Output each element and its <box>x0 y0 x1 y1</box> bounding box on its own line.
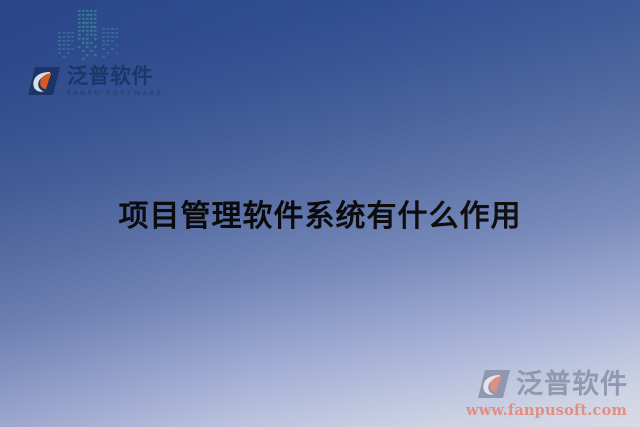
cityscape-buildings-icon <box>56 2 128 64</box>
fanpu-watermark-logo-icon <box>476 369 512 399</box>
watermark-logo-row: 泛普软件 <box>476 369 628 399</box>
promo-banner: 泛普软件 FANPU SOFTWARE 项目管理软件系统有什么作用 泛普软件 w… <box>0 0 640 427</box>
watermark-name-cn: 泛普软件 <box>516 371 628 398</box>
brand-wordmark-topleft: 泛普软件 FANPU SOFTWARE <box>67 66 163 97</box>
headline-title: 项目管理软件系统有什么作用 <box>0 198 640 236</box>
brand-watermark-bottomright: 泛普软件 www.fanpusoft.com <box>466 369 628 419</box>
brand-logo-topleft: 泛普软件 FANPU SOFTWARE <box>26 66 163 97</box>
fanpu-logo-mark-icon <box>26 66 62 96</box>
brand-name-cn: 泛普软件 <box>67 66 163 87</box>
brand-name-en: FANPU SOFTWARE <box>67 90 163 97</box>
watermark-url: www.fanpusoft.com <box>466 402 627 419</box>
